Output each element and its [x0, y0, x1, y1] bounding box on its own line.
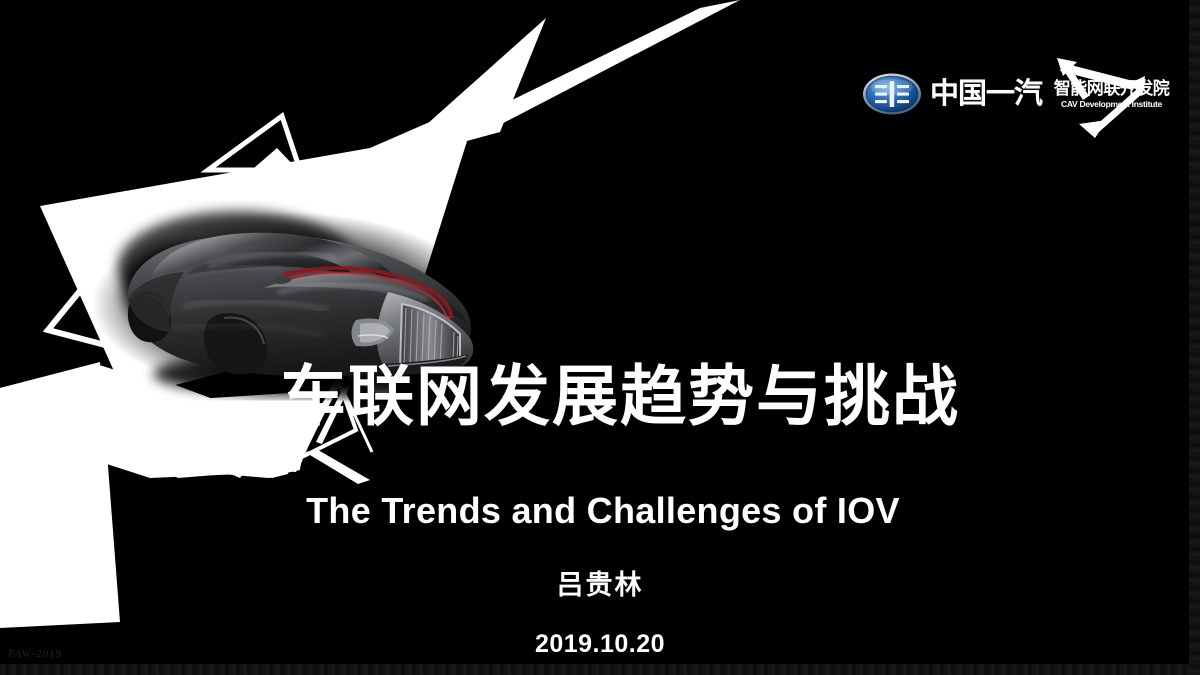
presenter-name: 吕贵林	[0, 563, 1200, 602]
bottom-edge-strip	[0, 664, 1200, 675]
presentation-slide: 中国一汽 智能网联开发院 CAV Development Institute	[0, 0, 1200, 675]
corner-watermark: FAW-2019	[8, 648, 62, 660]
institute-name-en: CAV Development Institute	[1061, 100, 1162, 109]
slide-title-cn: 车联网发展趋势与挑战	[0, 362, 1200, 431]
presentation-date: 2019.10.20	[0, 630, 1200, 659]
slide-title-en: The Trends and Challenges of IOV	[0, 490, 1200, 532]
right-edge-strip	[1189, 0, 1200, 675]
faw-emblem-icon	[862, 72, 922, 116]
brand-name-cn: 中国一汽	[930, 80, 1042, 109]
institute-block: 智能网联开发院 CAV Development Institute	[1051, 66, 1172, 122]
faw-logo-block: 中国一汽 智能网联开发院 CAV Development Institute	[862, 58, 1172, 130]
institute-name-cn: 智能网联开发院	[1054, 80, 1170, 97]
